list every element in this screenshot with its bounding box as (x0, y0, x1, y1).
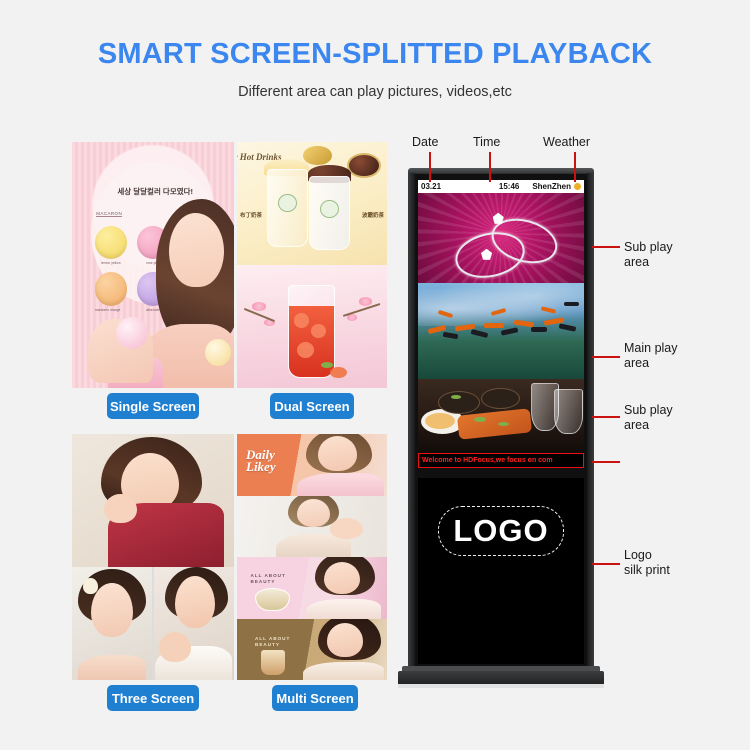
scrolling-text-banner[interactable]: Welcome to HDFocus,we focus on com (418, 453, 584, 468)
leader-line-ticker (592, 461, 620, 463)
model-face (327, 623, 363, 656)
model-hand (330, 518, 363, 539)
cosmetic-jar (255, 588, 290, 611)
multi-band-1: Daily Likey (237, 434, 387, 496)
annotation-weather: Weather (543, 135, 590, 150)
sun-icon (574, 183, 581, 190)
beauty-headline: ALL ABOUT BEAUTY (255, 636, 290, 648)
annotation-main-play-line1: Main play (624, 341, 678, 356)
sub-play-area-top[interactable] (418, 193, 584, 283)
annotation-main-play-line2: area (624, 356, 678, 371)
food-bowl-right (481, 388, 520, 409)
kiosk-base-shadow (398, 684, 604, 688)
leader-line-time (489, 152, 491, 182)
leader-line-main (592, 356, 620, 358)
blossom-right (359, 297, 373, 306)
kiosk-left-bezel (408, 173, 415, 668)
annotation-sub-play-top: Sub play area (624, 240, 673, 270)
page-root: SMART SCREEN-SPLITTED PLAYBACK Different… (0, 0, 750, 750)
gallery-button-single[interactable]: Single Screen (107, 393, 199, 419)
macaron-swatch-label-0: lemon yellow (93, 261, 129, 265)
powder-puff (116, 317, 148, 349)
model-shoulder (78, 655, 145, 680)
orange-garnish (330, 367, 347, 378)
gold-badge (303, 146, 332, 166)
annotation-sub-play-top-line2: area (624, 255, 673, 270)
model-face (297, 499, 330, 527)
page-subtitle: Different area can play pictures, videos… (0, 84, 750, 100)
fruit-slice-1 (294, 313, 309, 328)
model-face (169, 213, 224, 287)
gallery-panel-three[interactable] (72, 434, 234, 680)
annotation-logo: Logo silk print (624, 548, 670, 578)
annotation-main-play: Main play area (624, 341, 678, 371)
skydiver (471, 329, 488, 338)
leader-line-weather (574, 152, 576, 182)
model-shoulder (306, 599, 381, 619)
drink-left-name-cn: 布丁奶茶 (240, 211, 262, 219)
wine-glass-right (554, 389, 583, 434)
annotation-logo-line1: Logo (624, 548, 670, 563)
status-weather: ShenZhen (532, 182, 581, 191)
drink-left-logo (278, 194, 297, 212)
food-bowl-left (438, 391, 480, 414)
annotation-sub-play-bottom-line2: area (624, 418, 673, 433)
macaron-swatch-label-2: mandarin orange (90, 308, 126, 312)
gallery-panel-multi[interactable]: Daily Likey ALL ABOUT BEAUTY ALL (237, 434, 387, 680)
macaron-swatch-orange (95, 272, 127, 305)
macaron-poster-label: MACARON (96, 211, 122, 217)
multi-band-4: ALL ABOUT BEAUTY (237, 619, 387, 681)
three-bottom-right-scene (154, 567, 234, 680)
kiosk-base (398, 671, 604, 685)
leader-line-sub-top (592, 246, 620, 248)
bubble-badge (347, 153, 381, 178)
gallery-button-three[interactable]: Three Screen (107, 685, 199, 711)
daily-line-2: Likey (246, 461, 276, 473)
dual-top-scene: r Hot Drinks 布丁奶茶 波霸奶茶 (237, 142, 387, 265)
model-shoulder (297, 473, 384, 495)
status-weather-city: ShenZhen (532, 182, 571, 191)
annotation-date: Date (412, 135, 438, 150)
logo-silk-print-panel[interactable]: LOGO (418, 478, 584, 664)
beauty-headline: ALL ABOUT BEAUTY (251, 573, 286, 585)
skydiver (531, 327, 548, 332)
multi-band-2 (237, 496, 387, 558)
three-top-scene (72, 434, 234, 567)
beauty-line-1: ALL ABOUT (255, 636, 290, 642)
status-time: 15:46 (486, 182, 532, 191)
sauce-cup (425, 413, 455, 429)
annotation-logo-line2: silk print (624, 563, 670, 578)
status-date: 03.21 (421, 182, 486, 191)
leader-line-logo (592, 563, 620, 565)
model-shoulder (303, 662, 384, 680)
food-herb-3 (451, 395, 461, 399)
model-face (175, 576, 215, 628)
flower-hairpiece (83, 578, 97, 594)
annotation-sub-play-bottom-line1: Sub play (624, 403, 673, 418)
annotation-sub-play-top-line1: Sub play (624, 240, 673, 255)
annotation-sub-play-bottom: Sub play area (624, 403, 673, 433)
logo-placeholder: LOGO (438, 506, 564, 556)
skydiver (484, 323, 504, 328)
skydiver (443, 332, 459, 339)
model-face (324, 562, 360, 594)
gallery-button-dual[interactable]: Dual Screen (270, 393, 354, 419)
skydiver (564, 302, 579, 306)
leader-line-date (429, 152, 431, 182)
digital-signage-kiosk[interactable]: 03.21 15:46 ShenZhen (408, 168, 594, 680)
food-herb-1 (474, 417, 486, 421)
sub-play-area-bottom[interactable] (418, 379, 584, 453)
page-title: SMART SCREEN-SPLITTED PLAYBACK (0, 38, 750, 71)
model-face (318, 436, 357, 470)
kiosk-screen[interactable]: 03.21 15:46 ShenZhen (418, 180, 584, 468)
gallery-button-multi[interactable]: Multi Screen (272, 685, 358, 711)
main-play-area[interactable] (418, 283, 584, 379)
annotation-time: Time (473, 135, 500, 150)
blossom-right-2 (347, 314, 358, 321)
daily-likey-headline: Daily Likey (246, 449, 276, 473)
macaron-poster-heading: 세상 달달컬러 다모였다! (117, 186, 193, 197)
macaron-prop (205, 339, 231, 366)
model-hand (159, 632, 191, 661)
beauty-line-2: BEAUTY (255, 642, 290, 648)
model-face (91, 583, 133, 637)
three-bottom-left-scene (72, 567, 152, 680)
dual-bottom-scene (237, 265, 387, 388)
cosmetic-tube (261, 650, 285, 675)
model-hand (104, 494, 136, 523)
blossom-left (252, 302, 266, 311)
drink-right-name-cn: 波霸奶茶 (362, 211, 384, 219)
gallery-panel-dual[interactable]: r Hot Drinks 布丁奶茶 波霸奶茶 (237, 142, 387, 388)
leader-line-sub-bottom (592, 416, 620, 418)
skydiver (501, 327, 518, 335)
drink-right-logo (320, 200, 339, 218)
macaron-swatch-yellow (95, 226, 127, 259)
status-bar: 03.21 15:46 ShenZhen (418, 180, 584, 193)
gallery-panel-single[interactable]: 세상 달달컬러 다모였다! MACARON lemon yellow rose … (72, 142, 234, 388)
beauty-line-2: BEAUTY (251, 579, 286, 585)
multi-band-3: ALL ABOUT BEAUTY (237, 557, 387, 619)
